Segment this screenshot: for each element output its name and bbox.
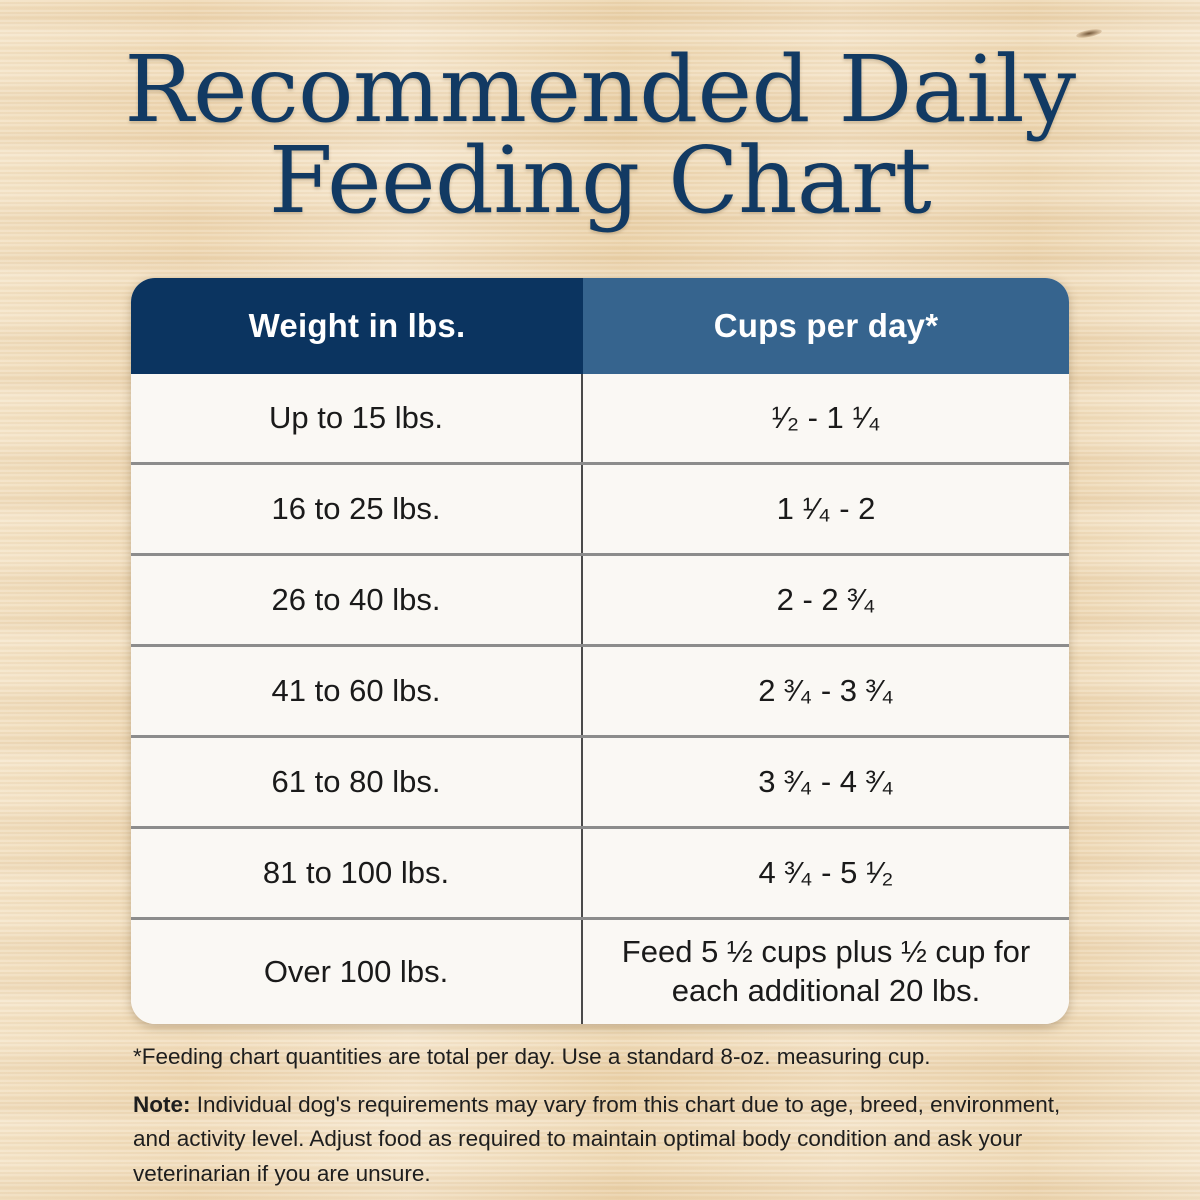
cell-cups: 3 ³⁄₄ - 4 ³⁄₄	[583, 738, 1069, 826]
table-row: 81 to 100 lbs. 4 ³⁄₄ - 5 ¹⁄₂	[131, 826, 1069, 917]
footnote-note: Note: Individual dog's requirements may …	[133, 1088, 1079, 1191]
feeding-table: Weight in lbs. Cups per day* Up to 15 lb…	[131, 278, 1069, 1024]
column-header-weight: Weight in lbs.	[131, 278, 583, 374]
cell-weight: 16 to 25 lbs.	[131, 465, 583, 553]
column-header-cups: Cups per day*	[583, 278, 1069, 374]
feeding-chart-page: Recommended Daily Feeding Chart Weight i…	[0, 0, 1200, 1200]
cell-weight: 61 to 80 lbs.	[131, 738, 583, 826]
cell-cups: 1 ¹⁄₄ - 2	[583, 465, 1069, 553]
footnote-note-label: Note:	[133, 1092, 191, 1117]
footnote-asterisk: *Feeding chart quantities are total per …	[133, 1040, 1079, 1074]
page-title-line-2: Feeding Chart	[0, 135, 1200, 226]
cell-weight: Over 100 lbs.	[131, 920, 583, 1024]
cell-weight: 81 to 100 lbs.	[131, 829, 583, 917]
table-header-row: Weight in lbs. Cups per day*	[131, 278, 1069, 374]
footnotes: *Feeding chart quantities are total per …	[133, 1040, 1079, 1191]
page-title-line-1: Recommended Daily	[0, 44, 1200, 135]
cell-cups: Feed 5 ½ cups plus ½ cup for each additi…	[583, 920, 1069, 1024]
page-title: Recommended Daily Feeding Chart	[0, 44, 1200, 226]
table-row: 16 to 25 lbs. 1 ¹⁄₄ - 2	[131, 462, 1069, 553]
cell-weight: 26 to 40 lbs.	[131, 556, 583, 644]
table-row: 41 to 60 lbs. 2 ³⁄₄ - 3 ³⁄₄	[131, 644, 1069, 735]
cell-cups: 4 ³⁄₄ - 5 ¹⁄₂	[583, 829, 1069, 917]
table-row: Up to 15 lbs. ¹⁄₂ - 1 ¹⁄₄	[131, 374, 1069, 462]
cell-weight: Up to 15 lbs.	[131, 374, 583, 462]
cell-cups-text: Feed 5 ½ cups plus ½ cup for each additi…	[583, 933, 1069, 1011]
cell-cups: ¹⁄₂ - 1 ¹⁄₄	[583, 374, 1069, 462]
table-row: 61 to 80 lbs. 3 ³⁄₄ - 4 ³⁄₄	[131, 735, 1069, 826]
footnote-note-text: Individual dog's requirements may vary f…	[133, 1092, 1060, 1185]
cell-cups: 2 - 2 ³⁄₄	[583, 556, 1069, 644]
table-row: Over 100 lbs. Feed 5 ½ cups plus ½ cup f…	[131, 917, 1069, 1024]
cell-cups: 2 ³⁄₄ - 3 ³⁄₄	[583, 647, 1069, 735]
table-row: 26 to 40 lbs. 2 - 2 ³⁄₄	[131, 553, 1069, 644]
cell-weight: 41 to 60 lbs.	[131, 647, 583, 735]
